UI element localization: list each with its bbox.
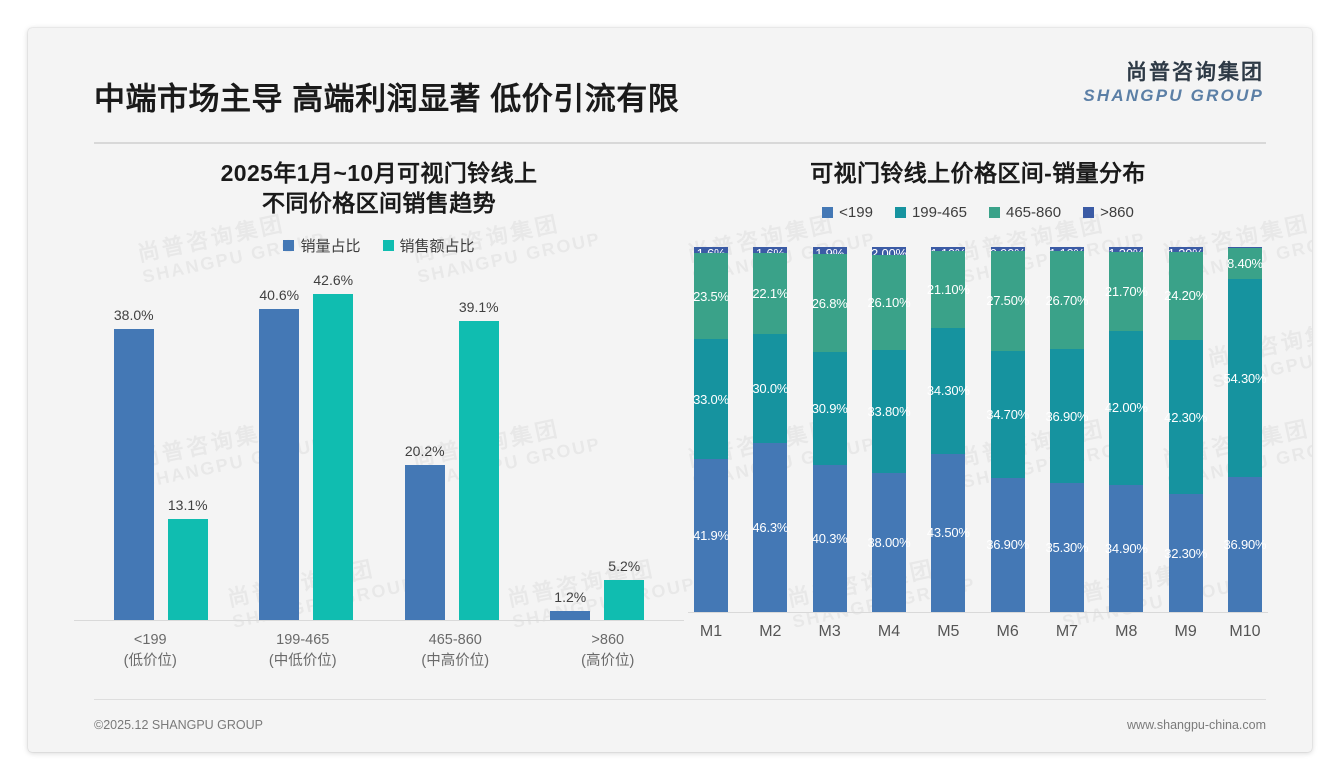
legend-swatch-icon — [383, 240, 394, 251]
legend-item-1[interactable]: <199 — [822, 204, 873, 221]
stack-segment[interactable]: 34.70% — [991, 351, 1025, 478]
stack-segment-label: 54.30% — [1224, 371, 1267, 386]
bar-group: 38.0%13.1% — [114, 268, 208, 620]
stack-segment-label: 21.70% — [1105, 284, 1148, 299]
x-axis-tick-label: M4 — [872, 623, 906, 641]
right-chart-x-axis: M1M2M3M4M5M6M7M8M9M10 — [688, 623, 1268, 641]
stack-segment[interactable]: 21.70% — [1109, 252, 1143, 331]
slide-page: 尚普咨询集团SHANGPU GROUP尚普咨询集团SHANGPU GROUP尚普… — [0, 0, 1340, 780]
stack-segment[interactable]: 1.9% — [813, 247, 847, 254]
stack-segment[interactable]: 36.90% — [1050, 349, 1084, 484]
right-chart-panel: 可视门铃线上价格区间-销量分布 <199199-465465-860>860 1… — [688, 158, 1268, 708]
x-axis-tick-label: <199(低价位) — [90, 630, 210, 672]
slide-card: 尚普咨询集团SHANGPU GROUP尚普咨询集团SHANGPU GROUP尚普… — [28, 28, 1312, 752]
stack-segment-label: 34.70% — [986, 407, 1029, 422]
stack-segment-label: 36.90% — [986, 537, 1029, 552]
legend-swatch-icon — [989, 207, 1000, 218]
bar-rect[interactable] — [114, 329, 154, 620]
stack-segment-label: 34.30% — [927, 383, 970, 398]
stack-segment[interactable]: 24.20% — [1169, 252, 1203, 340]
stacked-bar-column[interactable]: 0.30%8.40%54.30%36.90% — [1228, 247, 1262, 612]
footer-website: www.shangpu-china.com — [1127, 718, 1266, 732]
stack-segment[interactable]: 54.30% — [1228, 279, 1262, 477]
right-chart-legend: <199199-465465-860>860 — [688, 204, 1268, 221]
bar-value-label: 40.6% — [259, 287, 299, 303]
left-chart-x-axis: <199(低价位)199-465(中低价位)465-860(中高价位)>860(… — [74, 630, 684, 672]
stack-segment-label: 26.10% — [868, 295, 911, 310]
stacked-bar-column[interactable]: 1.9%26.8%30.9%40.3% — [813, 247, 847, 612]
stack-segment[interactable]: 33.80% — [872, 350, 906, 473]
legend-label: 销售额占比 — [400, 235, 475, 256]
right-chart-plot: 1.6%23.5%33.0%41.9%1.6%22.1%30.0%46.3%1.… — [688, 237, 1268, 613]
x-axis-tick-label: 465-860(中高价位) — [395, 630, 515, 672]
bar-column[interactable]: 42.6% — [313, 268, 353, 620]
bar-rect[interactable] — [168, 519, 208, 619]
legend-label: >860 — [1100, 204, 1134, 221]
bar-value-label: 20.2% — [405, 443, 445, 459]
bar-rect[interactable] — [259, 309, 299, 620]
stack-segment-label: 30.9% — [812, 401, 848, 416]
left-chart-title-line1: 2025年1月~10月可视门铃线上 — [221, 160, 538, 186]
stack-segment-label: 23.5% — [693, 289, 729, 304]
stack-segment[interactable]: 27.50% — [991, 251, 1025, 351]
x-axis-tick-label: M7 — [1050, 623, 1084, 641]
legend-label: <199 — [839, 204, 873, 221]
stack-segment[interactable]: 41.9% — [694, 459, 728, 612]
legend-swatch-icon — [1083, 207, 1094, 218]
bar-value-label: 5.2% — [608, 558, 640, 574]
stack-segment-label: 40.3% — [812, 531, 848, 546]
page-title: 中端市场主导 高端利润显著 低价引流有限 — [94, 74, 679, 119]
stack-segment-label: 22.1% — [752, 286, 788, 301]
stack-segment-label: 26.8% — [812, 296, 848, 311]
stack-segment[interactable]: 46.3% — [753, 443, 787, 612]
stacked-bar-column[interactable]: 1.20%24.20%42.30%32.30% — [1169, 247, 1203, 612]
stack-segment-label: 30.0% — [752, 381, 788, 396]
bar-rect[interactable] — [313, 294, 353, 620]
logo-chinese-text: 尚普咨询集团 — [1083, 62, 1264, 83]
right-chart-title-text: 可视门铃线上价格区间-销量分布 — [810, 160, 1146, 186]
legend-swatch-icon — [283, 240, 294, 251]
x-axis-tick-label: M2 — [753, 623, 787, 641]
bar-group: 40.6%42.6% — [259, 268, 353, 620]
stack-segment-label: 8.40% — [1227, 256, 1263, 271]
right-chart-title: 可视门铃线上价格区间-销量分布 — [688, 158, 1268, 188]
stack-segment[interactable]: 42.00% — [1109, 331, 1143, 484]
legend-label: 199-465 — [912, 204, 967, 221]
stack-segment[interactable]: 36.90% — [991, 478, 1025, 613]
bar-group: 1.2%5.2% — [550, 268, 644, 620]
x-axis-tick-label: M9 — [1169, 623, 1203, 641]
stack-segment-label: 46.3% — [752, 520, 788, 535]
bar-rect[interactable] — [604, 580, 644, 620]
left-chart-bars: 38.0%13.1%40.6%42.6%20.2%39.1%1.2%5.2% — [88, 268, 670, 620]
stack-segment[interactable]: 21.10% — [931, 251, 965, 328]
legend-swatch-icon — [895, 207, 906, 218]
bar-column[interactable]: 39.1% — [459, 268, 499, 620]
stack-segment[interactable]: 34.30% — [931, 328, 965, 453]
bar-column[interactable]: 40.6% — [259, 268, 299, 620]
stack-segment[interactable]: 43.50% — [931, 454, 965, 613]
slide-footer: ©2025.12 SHANGPU GROUP www.shangpu-china… — [94, 718, 1266, 732]
bar-group: 20.2%39.1% — [405, 268, 499, 620]
bar-value-label: 38.0% — [114, 307, 154, 323]
stack-segment-label: 38.00% — [868, 535, 911, 550]
stack-segment-label: 33.0% — [693, 392, 729, 407]
stack-segment[interactable]: 8.40% — [1228, 248, 1262, 279]
stack-segment-label: 21.10% — [927, 282, 970, 297]
logo-english-text: SHANGPU GROUP — [1083, 87, 1264, 104]
legend-item-2[interactable]: 199-465 — [895, 204, 967, 221]
stack-segment[interactable]: 42.30% — [1169, 340, 1203, 494]
bar-rect[interactable] — [550, 611, 590, 620]
stack-segment[interactable]: 34.90% — [1109, 485, 1143, 612]
stack-segment-label: 43.50% — [927, 525, 970, 540]
legend-item-3[interactable]: 465-860 — [989, 204, 1061, 221]
x-axis-tick-label: M10 — [1228, 623, 1262, 641]
stack-segment-label: 27.50% — [986, 293, 1029, 308]
stack-segment-label: 36.90% — [1046, 409, 1089, 424]
left-chart-plot: 38.0%13.1%40.6%42.6%20.2%39.1%1.2%5.2% — [74, 268, 684, 621]
bar-column[interactable]: 5.2% — [604, 268, 644, 620]
stack-segment-label: 32.30% — [1164, 546, 1207, 561]
left-chart-legend: 销量占比销售额占比 — [74, 235, 684, 256]
stack-segment[interactable]: 30.0% — [753, 334, 787, 444]
bar-value-label: 39.1% — [459, 299, 499, 315]
footer-divider — [94, 699, 1266, 700]
legend-label: 465-860 — [1006, 204, 1061, 221]
legend-item-4[interactable]: >860 — [1083, 204, 1134, 221]
x-axis-tick-label: M8 — [1109, 623, 1143, 641]
stack-segment-label: 33.80% — [868, 404, 911, 419]
stack-segment[interactable]: 40.3% — [813, 465, 847, 612]
stack-segment[interactable]: 26.10% — [872, 255, 906, 350]
stack-segment-label: 36.90% — [1224, 537, 1267, 552]
stacked-bar-column[interactable]: 2.00%26.10%33.80%38.00% — [872, 247, 906, 612]
stack-segment[interactable]: 33.0% — [694, 339, 728, 459]
stack-segment-label: 42.30% — [1164, 410, 1207, 425]
left-chart-title-line2: 不同价格区间销售趋势 — [74, 188, 684, 218]
bar-column[interactable]: 13.1% — [168, 268, 208, 620]
stack-segment[interactable]: 38.00% — [872, 473, 906, 612]
bar-value-label: 42.6% — [313, 272, 353, 288]
bar-column[interactable]: 1.2% — [550, 268, 590, 620]
stacked-bar-column[interactable]: 1.6%23.5%33.0%41.9% — [694, 247, 728, 612]
stack-segment-label: 35.30% — [1046, 540, 1089, 555]
x-axis-tick-label: M5 — [931, 623, 965, 641]
bar-rect[interactable] — [459, 321, 499, 620]
stacked-bar-column[interactable]: 1.10%21.10%34.30%43.50% — [931, 247, 965, 612]
stack-segment-label: 34.90% — [1105, 541, 1148, 556]
x-axis-tick-label: M1 — [694, 623, 728, 641]
stack-segment[interactable]: 26.8% — [813, 254, 847, 352]
stack-segment[interactable]: 22.1% — [753, 253, 787, 334]
slide-header: 中端市场主导 高端利润显著 低价引流有限 尚普咨询集团 SHANGPU GROU… — [28, 28, 1312, 121]
brand-logo: 尚普咨询集团 SHANGPU GROUP — [1083, 62, 1264, 104]
header-divider — [94, 142, 1266, 144]
stack-segment[interactable]: 26.70% — [1050, 251, 1084, 348]
stack-segment[interactable]: 2.00% — [872, 247, 906, 254]
x-axis-tick-label: M6 — [991, 623, 1025, 641]
legend-item-2[interactable]: 销售额占比 — [383, 235, 475, 256]
right-chart-bars: 1.6%23.5%33.0%41.9%1.6%22.1%30.0%46.3%1.… — [694, 247, 1262, 612]
x-axis-tick-label: M3 — [813, 623, 847, 641]
stack-segment-label: 24.20% — [1164, 288, 1207, 303]
legend-label: 销量占比 — [300, 235, 360, 256]
stacked-bar-column[interactable]: 0.90%27.50%34.70%36.90% — [991, 247, 1025, 612]
stack-segment-label: 42.00% — [1105, 400, 1148, 415]
stack-segment[interactable]: 32.30% — [1169, 494, 1203, 612]
stacked-bar-column[interactable]: 1.6%22.1%30.0%46.3% — [753, 247, 787, 612]
bar-column[interactable]: 20.2% — [405, 268, 445, 620]
left-chart-panel: 2025年1月~10月可视门铃线上 不同价格区间销售趋势 销量占比销售额占比 3… — [74, 158, 684, 708]
bar-column[interactable]: 38.0% — [114, 268, 154, 620]
stack-segment-label: 41.9% — [693, 528, 729, 543]
footer-copyright: ©2025.12 SHANGPU GROUP — [94, 718, 263, 732]
stack-segment[interactable]: 35.30% — [1050, 483, 1084, 612]
stack-segment-label: 26.70% — [1046, 293, 1089, 308]
legend-swatch-icon — [822, 207, 833, 218]
bar-rect[interactable] — [405, 465, 445, 620]
stack-segment[interactable]: 36.90% — [1228, 477, 1262, 612]
bar-value-label: 1.2% — [554, 589, 586, 605]
stack-segment[interactable]: 30.9% — [813, 352, 847, 465]
bar-value-label: 13.1% — [168, 497, 208, 513]
x-axis-tick-label: >860(高价位) — [548, 630, 668, 672]
stack-segment[interactable]: 23.5% — [694, 253, 728, 339]
stacked-bar-column[interactable]: 1.10%26.70%36.90%35.30% — [1050, 247, 1084, 612]
left-chart-title: 2025年1月~10月可视门铃线上 不同价格区间销售趋势 — [74, 158, 684, 219]
stacked-bar-column[interactable]: 1.30%21.70%42.00%34.90% — [1109, 247, 1143, 612]
legend-item-1[interactable]: 销量占比 — [283, 235, 360, 256]
x-axis-tick-label: 199-465(中低价位) — [243, 630, 363, 672]
